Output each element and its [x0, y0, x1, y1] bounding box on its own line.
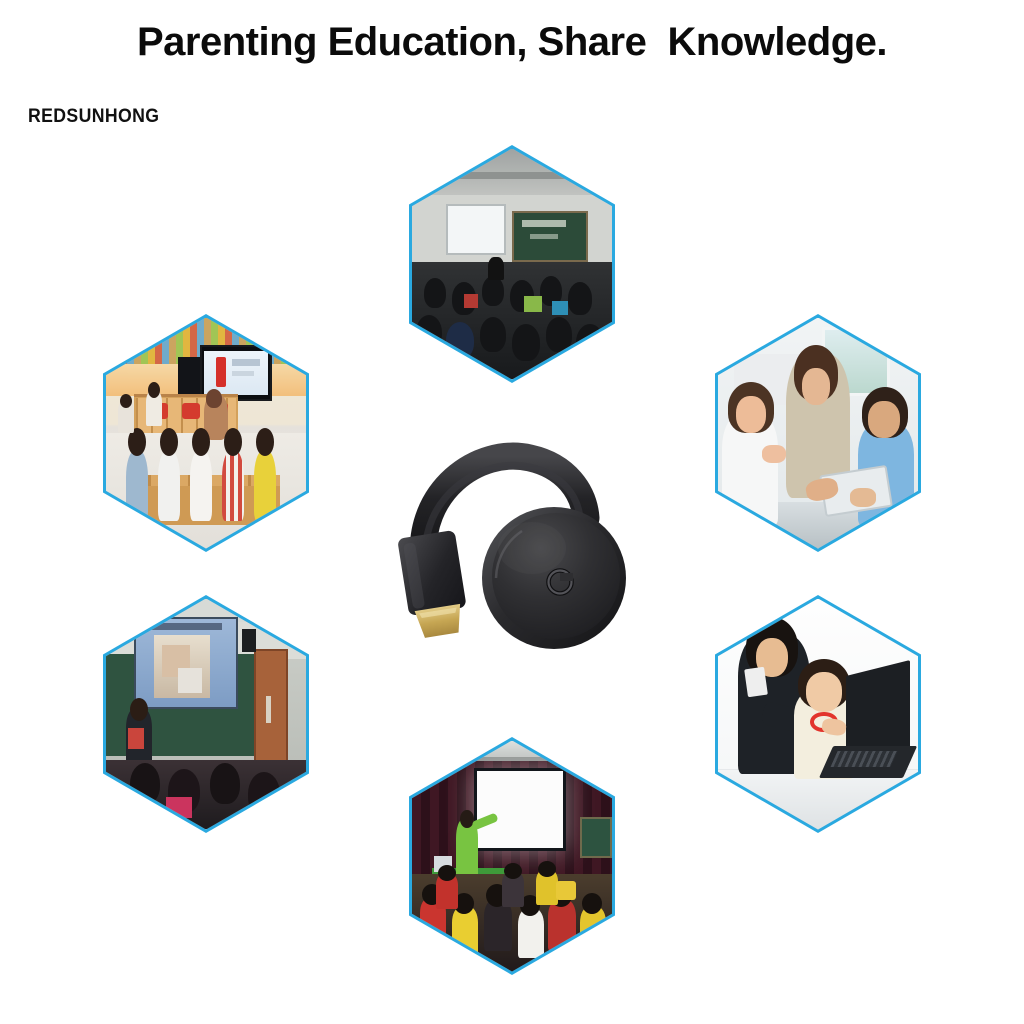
scene-lecture-hall	[412, 149, 612, 380]
speaker-icon	[242, 629, 256, 652]
hex-photo-laptop-parenting	[718, 599, 918, 830]
scene-projector-lesson	[106, 599, 306, 830]
scene-laptop-parenting	[718, 599, 918, 830]
hex-cell-preschool[interactable]	[103, 314, 309, 552]
scene-tablet-tutoring	[718, 318, 918, 549]
hex-cell-laptop-parenting[interactable]	[715, 595, 921, 833]
projection-screen-icon	[474, 768, 566, 851]
hex-photo-projector-lesson	[106, 599, 306, 830]
hex-cell-lecture-hall[interactable]	[409, 145, 615, 383]
door-icon	[254, 649, 288, 769]
scene-assembly-hall	[412, 741, 612, 972]
hex-cell-projector-lesson[interactable]	[103, 595, 309, 833]
hexagon-collage	[0, 0, 1024, 1024]
product-image-dongle	[380, 430, 645, 665]
chalkboard-icon	[580, 817, 612, 859]
hex-photo-assembly-hall	[412, 741, 612, 972]
hex-photo-lecture-hall	[412, 149, 612, 380]
hex-cell-tablet-tutoring[interactable]	[715, 314, 921, 552]
scene-preschool-classroom	[106, 318, 306, 549]
projection-screen-icon	[446, 204, 506, 255]
hex-cell-assembly-hall[interactable]	[409, 737, 615, 975]
hex-photo-tablet-tutoring	[718, 318, 918, 549]
hex-photo-preschool	[106, 318, 306, 549]
